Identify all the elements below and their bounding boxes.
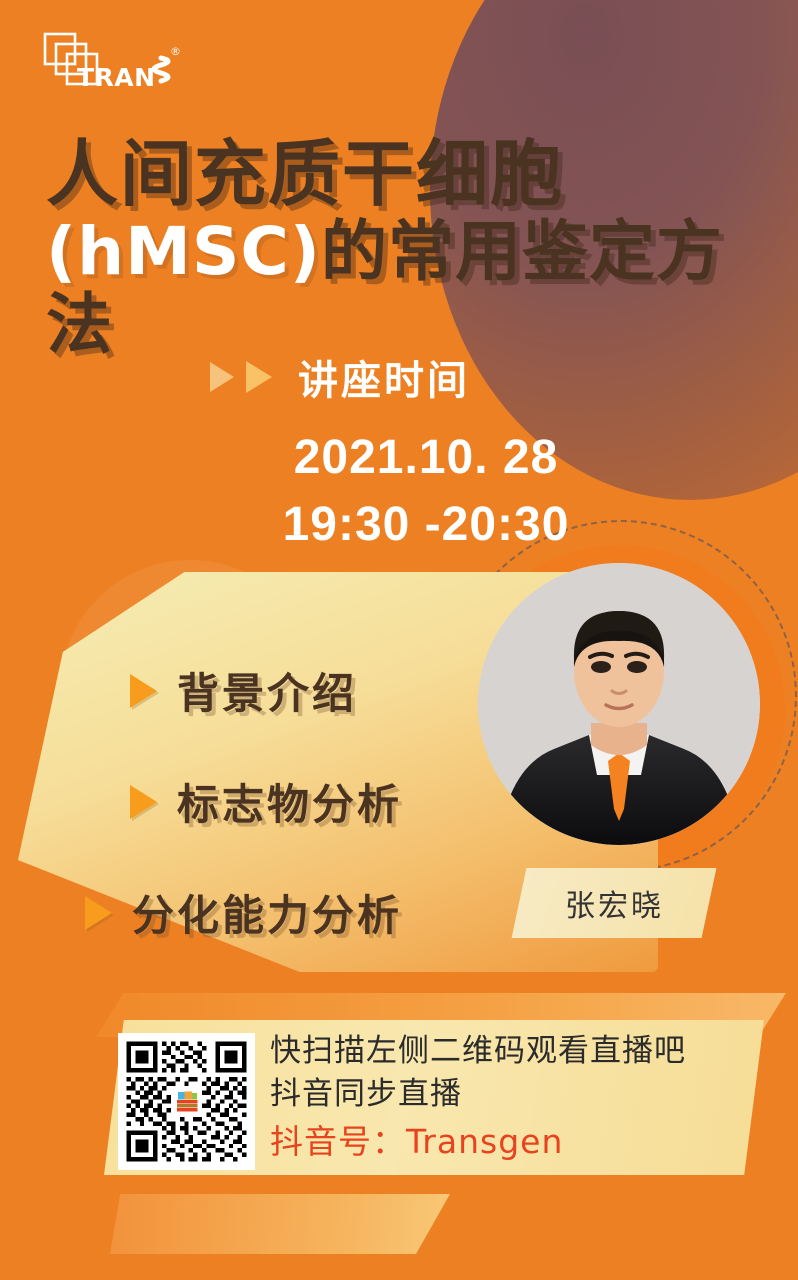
schedule-header: 讲座时间 <box>210 348 640 406</box>
trans-squares-helix-logo-icon: TRAN ® <box>42 30 192 102</box>
play-triangle-icon <box>210 362 234 392</box>
svg-text:TRAN: TRAN <box>77 63 156 92</box>
svg-text:®: ® <box>170 45 181 58</box>
schedule-time-range: 19:30 -20:30 <box>246 497 606 552</box>
list-item: 分化能力分析 <box>85 882 560 943</box>
poster-headline: 人间充质干细胞 (hMSC)的常用鉴定方法 <box>46 136 776 362</box>
agenda-item-label: 背景介绍 <box>177 660 357 721</box>
play-triangle-bullet-icon <box>130 785 157 819</box>
schedule-block: 讲座时间 2021.10. 28 19:30 -20:30 <box>210 348 640 552</box>
list-item: 标志物分析 <box>130 771 560 832</box>
schedule-date: 2021.10. 28 <box>246 430 606 485</box>
trans-logo: TRAN ® <box>42 30 192 102</box>
play-triangle-bullet-icon <box>85 896 112 930</box>
headline-line-1: 人间充质干细胞 <box>46 136 776 212</box>
footer-line-1: 快扫描左侧二维码观看直播吧 <box>270 1030 740 1073</box>
play-triangle-icon <box>246 361 272 393</box>
footer-line-2: 抖音同步直播 <box>270 1073 740 1116</box>
footer-decoration-shape <box>110 1194 450 1254</box>
speaker-portrait-icon <box>478 563 760 845</box>
agenda-item-label: 标志物分析 <box>177 771 402 832</box>
headline-line-2: (hMSC)的常用鉴定方法 <box>46 216 776 361</box>
status-badge: 张宏晓 <box>512 868 717 938</box>
avatar <box>478 563 760 845</box>
footer-douyin-id: 抖音号：Transgen <box>270 1119 740 1165</box>
headline-abbreviation: (hMSC) <box>46 213 321 290</box>
schedule-label: 讲座时间 <box>298 348 470 406</box>
qr-code-icon <box>122 1037 251 1166</box>
footer-banner-text: 快扫描左侧二维码观看直播吧 抖音同步直播 抖音号：Transgen <box>270 1030 740 1165</box>
speaker-name: 张宏晓 <box>565 881 664 925</box>
promotional-poster: TRAN ® 人间充质干细胞 (hMSC)的常用鉴定方法 讲座时间 2021.1… <box>0 0 798 1280</box>
qr-code[interactable] <box>118 1033 255 1170</box>
agenda-item-label: 分化能力分析 <box>132 882 402 943</box>
play-triangle-bullet-icon <box>130 674 157 708</box>
